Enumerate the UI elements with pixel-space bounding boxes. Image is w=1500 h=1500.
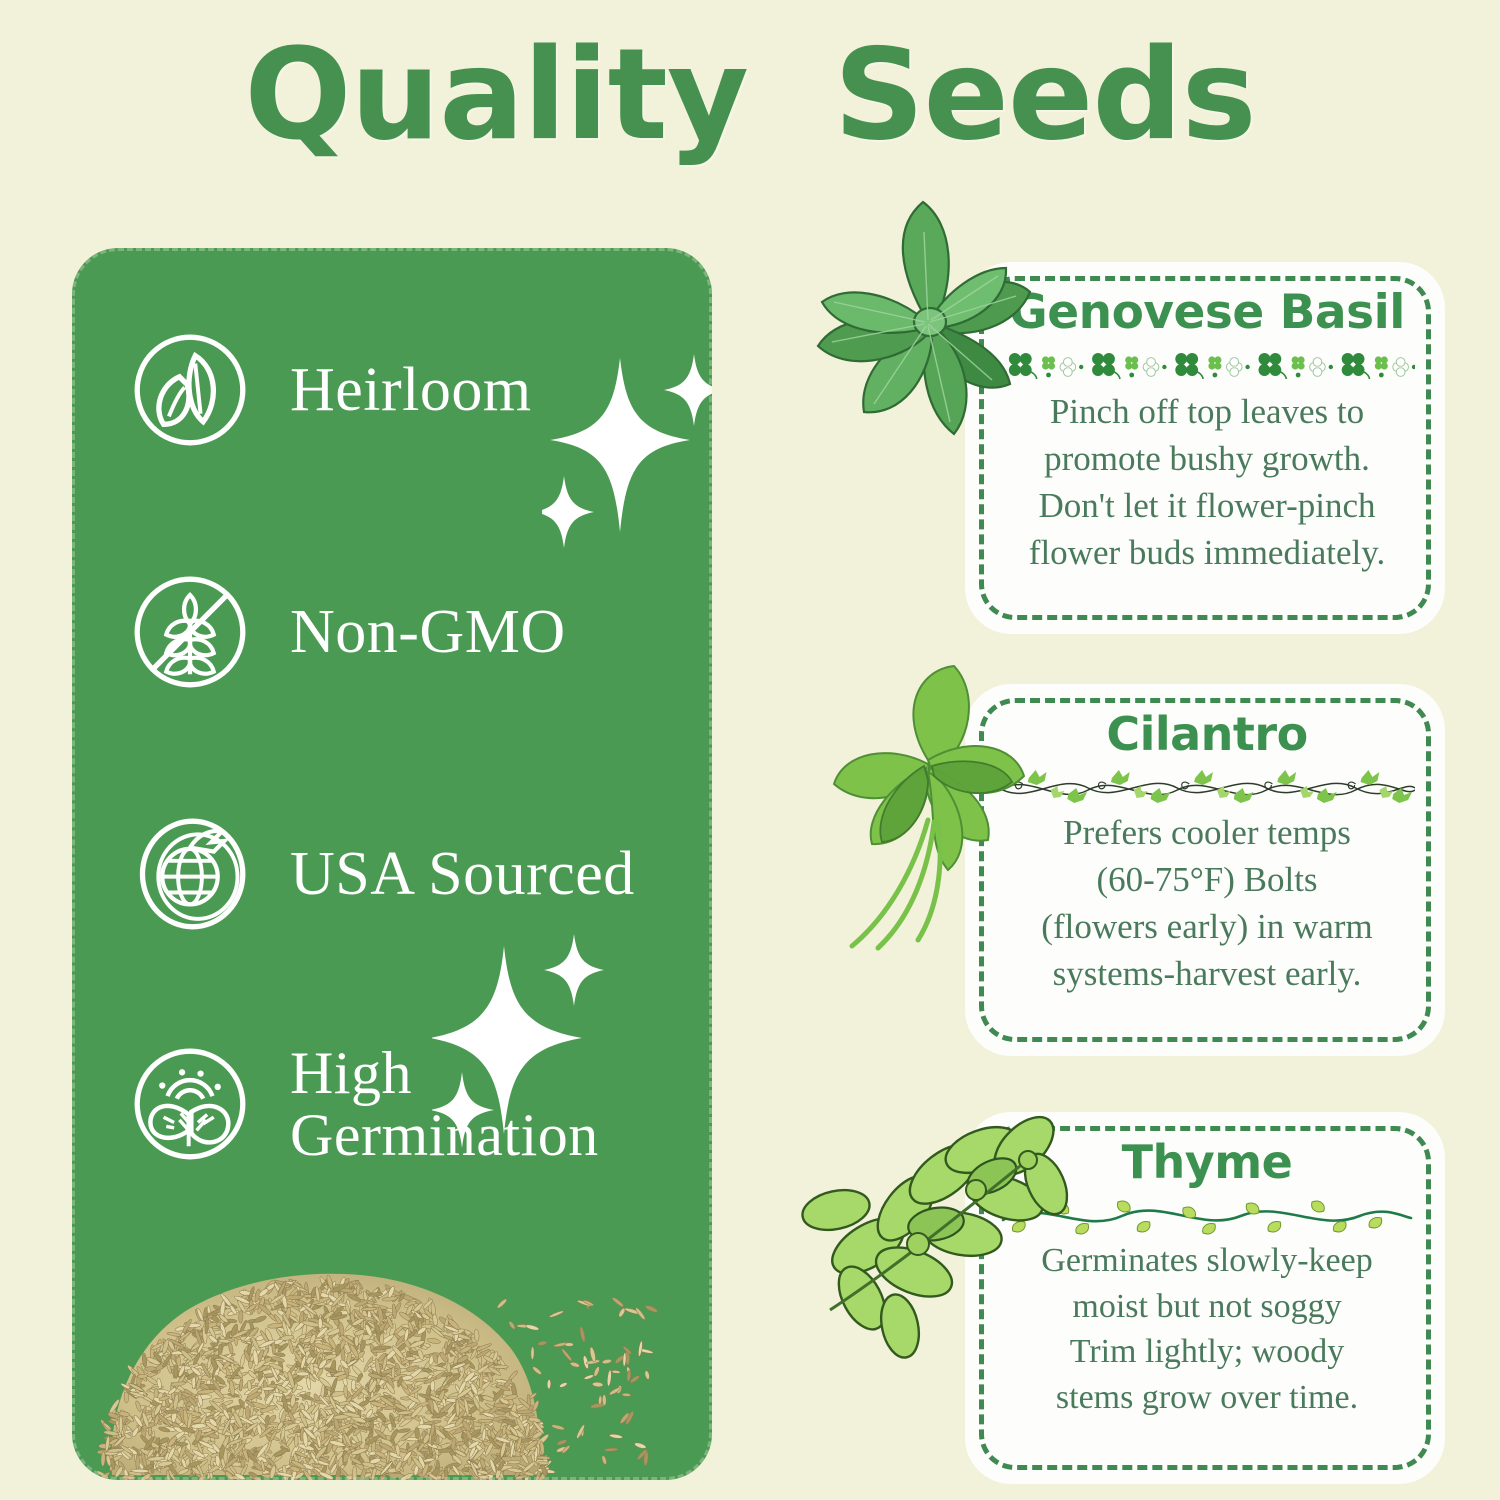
sprout-icon (124, 1038, 256, 1170)
page-title: Quality Seeds (0, 28, 1500, 162)
feature-item-heirloom: Heirloom (124, 324, 704, 456)
leaf-wave-divider (999, 1192, 1415, 1236)
feature-label: USA Sourced (290, 842, 635, 906)
clover-flower-divider (999, 343, 1415, 387)
card-title: Cilantro (999, 710, 1415, 758)
herb-card-genovese-basil[interactable]: Genovese Basil (965, 262, 1445, 634)
card-body: Pinch off top leaves to promote bushy gr… (999, 389, 1415, 577)
card-title: Genovese Basil (999, 288, 1415, 337)
card-body: Germinates slowly-keep moist but not sog… (999, 1238, 1415, 1420)
features-panel: Heirloom Non-GMO (72, 248, 712, 1480)
feature-item-usa-sourced: USA Sourced (124, 808, 704, 940)
globe-plane-icon (124, 808, 256, 940)
card-title: Thyme (999, 1138, 1415, 1186)
feature-label: Heirloom (290, 358, 532, 422)
poster-canvas: Quality Seeds (0, 0, 1500, 1500)
seed-icon (124, 324, 256, 456)
feature-label: Non-GMO (290, 600, 566, 664)
no-gmo-wheat-icon (124, 566, 256, 698)
herb-card-cilantro[interactable]: Cilantro (965, 684, 1445, 1056)
feature-label: High Germination (290, 1042, 599, 1167)
herb-card-thyme[interactable]: Thyme (965, 1112, 1445, 1484)
feature-item-non-gmo: Non-GMO (124, 566, 704, 698)
feature-item-high-germination: High Germination (124, 1038, 704, 1170)
ivy-vine-divider (999, 764, 1415, 808)
card-body: Prefers cooler temps (60-75°F) Bolts (fl… (999, 810, 1415, 998)
seed-pile-image (82, 1210, 682, 1480)
